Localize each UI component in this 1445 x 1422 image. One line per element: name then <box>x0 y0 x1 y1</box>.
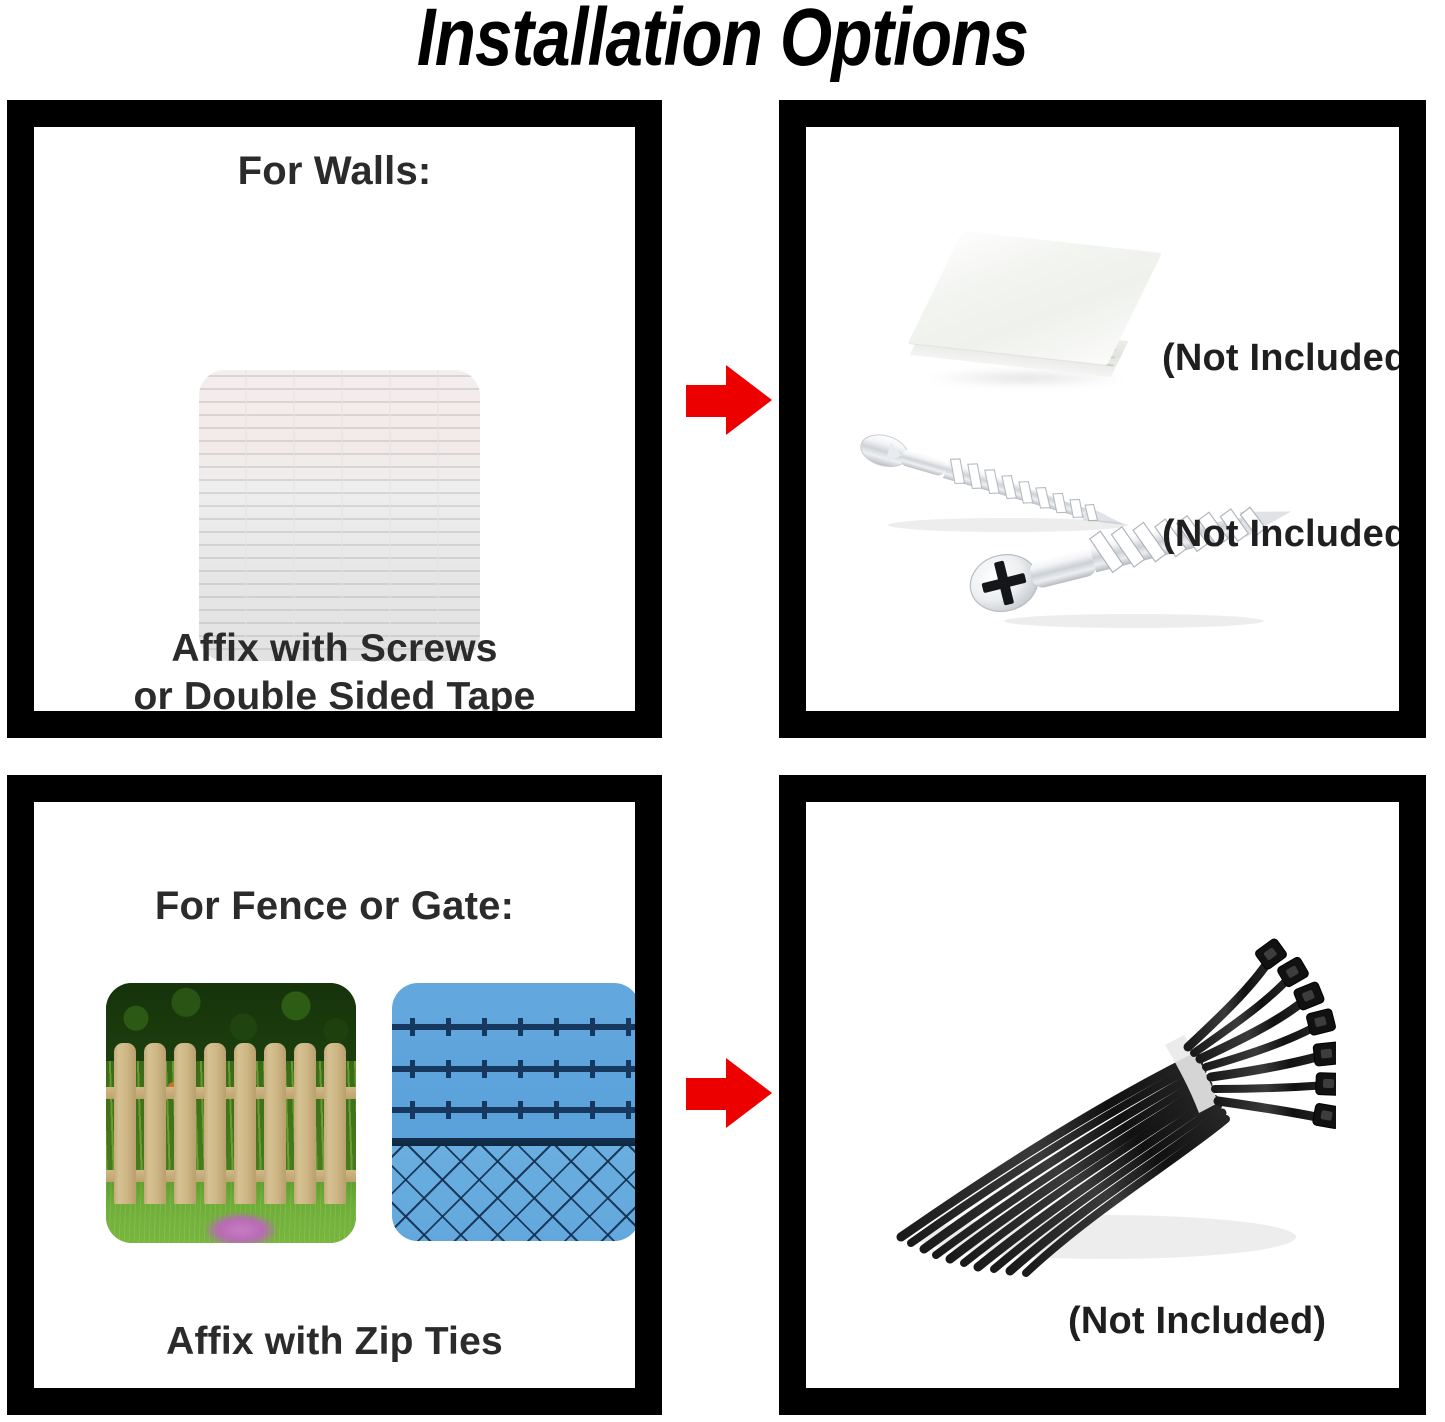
double-sided-tape-stack-photo <box>906 242 1154 397</box>
fence-picket <box>174 1043 196 1204</box>
panel-walls-caption-line-1: Affix with Screws <box>34 627 635 671</box>
wooden-picket-fence-photo <box>106 983 356 1243</box>
red-arrow-right-icon <box>686 1058 772 1128</box>
installation-options-infographic: Installation Options For Walls: Affix wi… <box>0 0 1445 1422</box>
screws-not-included-label: (Not Included) <box>1162 513 1399 556</box>
fence-picket <box>144 1043 166 1204</box>
panel-wall-hardware: (Not Included) <box>779 100 1426 738</box>
panel-for-walls: For Walls: Affix with Screws or Double S… <box>7 100 662 738</box>
barbed-wire <box>392 1107 635 1113</box>
panel-for-fence-or-gate: For Fence or Gate: <box>7 775 662 1415</box>
arrow-head <box>726 1058 772 1128</box>
black-zip-ties-bundle-photo <box>866 907 1336 1307</box>
fence-picket <box>294 1043 316 1204</box>
panel-zip-ties: (Not Included) <box>779 775 1426 1415</box>
chain-link-mesh <box>392 1146 635 1241</box>
panel-walls-heading: For Walls: <box>34 149 635 194</box>
white-brick-wall-photo <box>199 370 480 661</box>
arrow-head <box>726 365 772 435</box>
chain-link-barbed-wire-fence-photo <box>392 983 635 1241</box>
fence-picket <box>204 1043 226 1204</box>
panel-fence-heading: For Fence or Gate: <box>34 884 635 929</box>
zip-ties-not-included-label: (Not Included) <box>1068 1300 1326 1343</box>
panel-fence-caption-line-1: Affix with Zip Ties <box>34 1320 635 1364</box>
fence-picket <box>264 1043 286 1204</box>
red-arrow-right-icon <box>686 365 772 435</box>
page-title: Installation Options <box>130 0 1315 83</box>
barbed-wire <box>392 1024 635 1030</box>
panel-walls-caption-line-2: or Double Sided Tape <box>34 675 635 711</box>
tape-not-included-label: (Not Included) <box>1162 337 1399 380</box>
garden-path <box>206 1213 276 1243</box>
fence-picket <box>234 1043 256 1204</box>
fence-picket <box>114 1043 136 1204</box>
barbed-wire <box>392 1066 635 1072</box>
fence-picket <box>324 1043 346 1204</box>
